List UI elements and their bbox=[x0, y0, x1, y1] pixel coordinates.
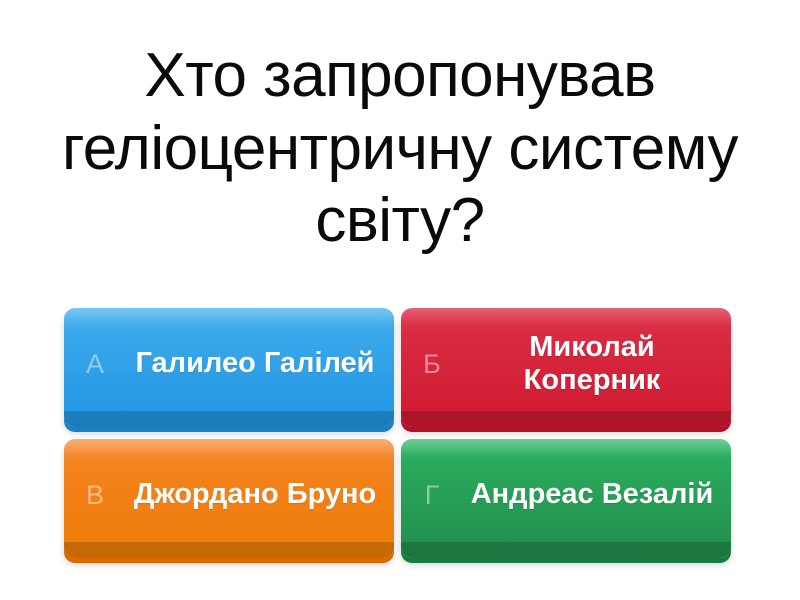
answer-cell-c: В Джордано Бруно bbox=[64, 437, 401, 568]
answer-option-d-button[interactable]: Г Андреас Везалій bbox=[401, 439, 731, 558]
answer-option-a-letter: А bbox=[64, 351, 126, 384]
answer-option-b-label: Миколай Коперник bbox=[463, 331, 731, 404]
answer-option-b-button[interactable]: Б Миколай Коперник bbox=[401, 308, 731, 427]
question-text: Хто запропонував геліоцентричну систему … bbox=[22, 40, 778, 258]
answer-option-a-button[interactable]: А Галилео Галілей bbox=[64, 308, 394, 427]
answer-cell-a: А Галилео Галілей bbox=[64, 306, 401, 437]
quiz-question-card: Хто запропонував геліоцентричну систему … bbox=[0, 0, 800, 600]
answer-options-grid: А Галилео Галілей Б Миколай Коперник В Д… bbox=[64, 306, 736, 568]
answer-option-c-label: Джордано Бруно bbox=[126, 478, 394, 518]
question-area: Хто запропонував геліоцентричну систему … bbox=[0, 8, 800, 290]
answer-option-a-label: Галилео Галілей bbox=[126, 347, 394, 387]
answer-cell-b: Б Миколай Коперник bbox=[401, 306, 738, 437]
answer-option-d-label: Андреас Везалій bbox=[463, 478, 731, 518]
answer-cell-d: Г Андреас Везалій bbox=[401, 437, 738, 568]
answer-option-c-button[interactable]: В Джордано Бруно bbox=[64, 439, 394, 558]
answer-option-d-letter: Г bbox=[401, 482, 463, 515]
answer-option-b-letter: Б bbox=[401, 351, 463, 384]
answer-option-c-letter: В bbox=[64, 482, 126, 515]
